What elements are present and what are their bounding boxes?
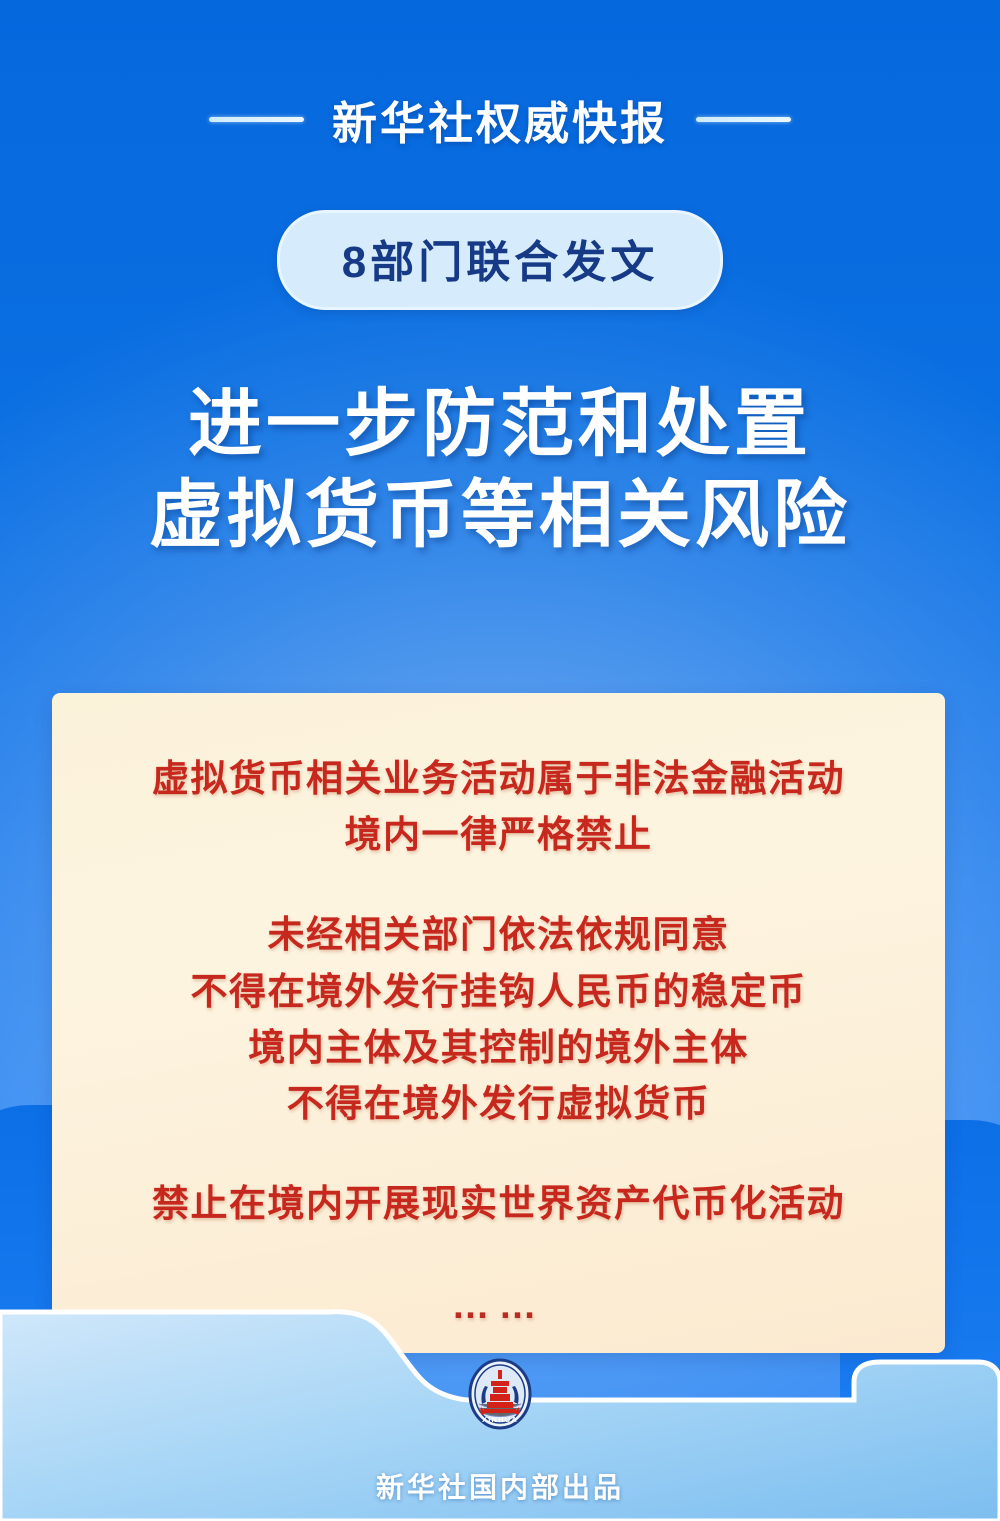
content-line: 境内主体及其控制的境外主体 (82, 1020, 915, 1076)
content-stanza: 未经相关部门依法依规同意 不得在境外发行挂钩人民币的稳定币 境内主体及其控制的境… (82, 907, 915, 1132)
header-rule-left-icon (209, 117, 304, 122)
content-card-body: 虚拟货币相关业务活动属于非法金融活动 境内一律严格禁止 未经相关部门依法依规同意… (52, 693, 945, 1328)
content-line: 未经相关部门依法依规同意 (82, 907, 915, 963)
header-rule-right-icon (696, 117, 791, 122)
content-line: 境内一律严格禁止 (82, 807, 915, 863)
header: 新华社权威快报 (0, 86, 1000, 152)
page-title-line-2: 虚拟货币等相关风险 (0, 469, 1000, 560)
content-stanza: 虚拟货币相关业务活动属于非法金融活动 境内一律严格禁止 (82, 751, 915, 863)
header-title: 新华社权威快报 (332, 87, 668, 152)
poster-root: 新华社权威快报 8部门联合发文 进一步防范和处置 虚拟货币等相关风险 虚拟货币相… (0, 0, 1000, 1521)
xinhua-wordmark: XINHUA (482, 1415, 518, 1424)
xinhua-logo: XINHUA (467, 1358, 533, 1430)
footer-text: 新华社国内部出品 (0, 1466, 1000, 1506)
page-title: 进一步防范和处置 虚拟货币等相关风险 (0, 378, 1000, 560)
content-line: 不得在境外发行挂钩人民币的稳定币 (82, 964, 915, 1020)
content-line: 禁止在境内开展现实世界资产代币化活动 (82, 1176, 915, 1232)
xinhua-logo-icon: XINHUA (467, 1358, 533, 1430)
badge-label: 8部门联合发文 (342, 238, 658, 287)
content-stanza: 禁止在境内开展现实世界资产代币化活动 (82, 1176, 915, 1232)
subtitle-badge: 8部门联合发文 (277, 210, 723, 310)
page-title-line-1: 进一步防范和处置 (0, 378, 1000, 469)
badge-container: 8部门联合发文 (0, 210, 1000, 310)
content-line: 虚拟货币相关业务活动属于非法金融活动 (82, 751, 915, 807)
content-line: 不得在境外发行虚拟货币 (82, 1076, 915, 1132)
